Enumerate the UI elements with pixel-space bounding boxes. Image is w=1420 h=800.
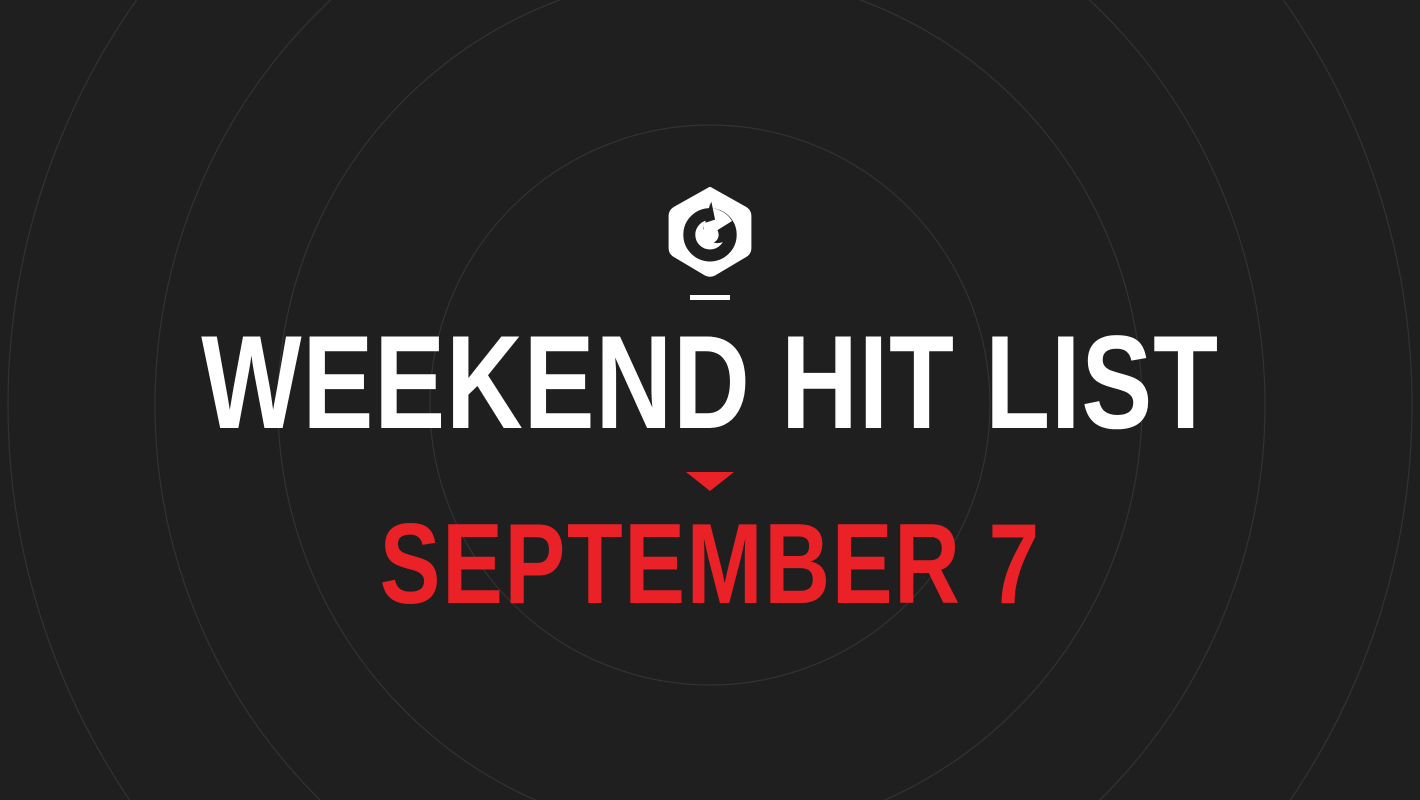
- logo-center-dot: [701, 226, 718, 243]
- date-subtitle: SEPTEMBER 7: [379, 508, 1040, 622]
- page-title: WEEKEND HIT LIST: [201, 317, 1219, 450]
- down-triangle-icon: [686, 472, 734, 491]
- brand-logo: [664, 186, 756, 278]
- hexagon-spiral-logo-icon: [664, 186, 756, 278]
- title-divider: [690, 295, 730, 300]
- poster-content: WEEKEND HIT LIST SEPTEMBER 7: [0, 0, 1420, 800]
- poster-canvas: WEEKEND HIT LIST SEPTEMBER 7: [0, 0, 1420, 800]
